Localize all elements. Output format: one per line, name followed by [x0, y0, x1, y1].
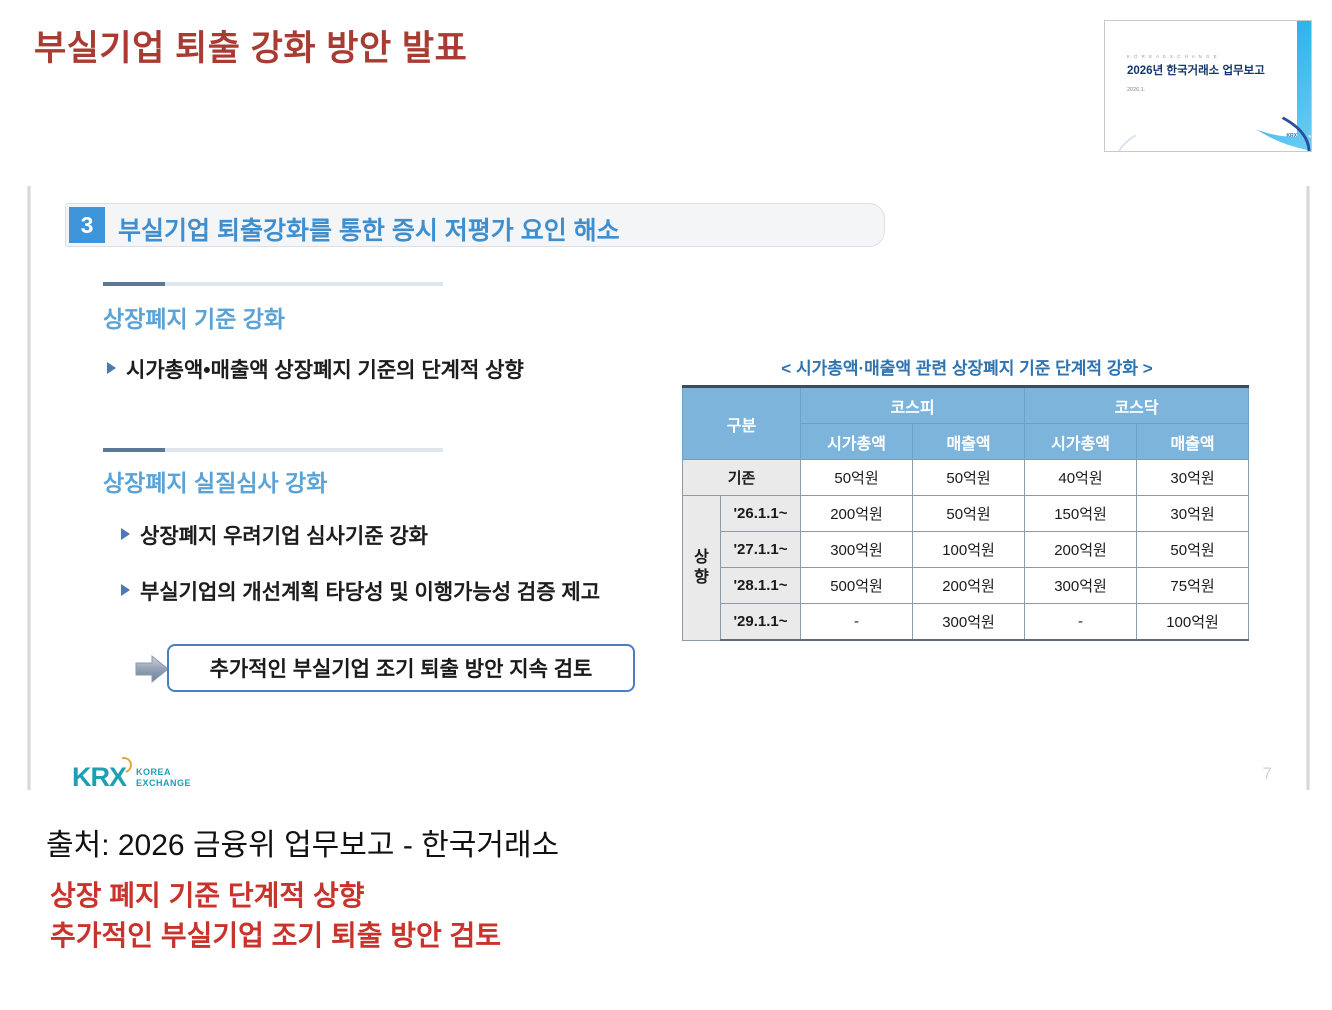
- callout-text: 추가적인 부실기업 조기 퇴출 방안 지속 검토: [210, 653, 593, 683]
- cell-value: 50억원: [913, 496, 1025, 532]
- table-header-market-kospi: 코스피: [801, 387, 1025, 424]
- highlight-caption-2: 추가적인 부실기업 조기 퇴출 방안 검토: [50, 914, 501, 954]
- slide-page-number: 7: [1263, 764, 1272, 784]
- krx-logo-line-1: KOREA: [136, 767, 191, 777]
- cell-value: 75억원: [1137, 568, 1249, 604]
- cell-value: 200억원: [913, 568, 1025, 604]
- source-caption: 출처: 2026 금융위 업무보고 - 한국거래소: [46, 820, 559, 864]
- table-header-metric: 매출액: [1137, 424, 1249, 460]
- thumbnail-eyebrow: K O R E A E X C H A N G E: [1127, 54, 1218, 59]
- slide-left-edge: [27, 186, 31, 790]
- right-arrow-icon: [135, 654, 169, 684]
- slide-right-edge: [1306, 186, 1310, 790]
- table-header-market-kosdaq: 코스닥: [1025, 387, 1249, 424]
- row-label-period: '28.1.1~: [721, 568, 801, 604]
- table-row: '29.1.1~ - 300억원 - 100억원: [683, 604, 1249, 641]
- bullet-item: 시가총액•매출액 상장폐지 기준의 단계적 상향: [107, 354, 524, 384]
- subsection-heading-1: 상장폐지 기준 강화: [103, 300, 285, 334]
- thumbnail-krx-logo: KRX: [1286, 133, 1297, 139]
- cell-value: 50억원: [801, 460, 913, 496]
- slide-canvas: 3 부실기업 퇴출강화를 통한 증시 저평가 요인 해소 상장폐지 기준 강화 …: [27, 186, 1310, 790]
- bullet-item: 부실기업의 개선계획 타당성 및 이행가능성 검증 제고: [121, 576, 600, 606]
- row-label-raise-char: 향: [694, 569, 709, 586]
- row-label-period: '26.1.1~: [721, 496, 801, 532]
- krx-logo-line-2: EXCHANGE: [136, 778, 191, 788]
- cell-value: 50억원: [913, 460, 1025, 496]
- highlight-caption-1: 상장 폐지 기준 단계적 상향: [50, 874, 364, 914]
- cell-value: 300억원: [1025, 568, 1137, 604]
- divider-rule-2: [103, 448, 443, 452]
- triangle-bullet-icon: [107, 362, 116, 374]
- delisting-criteria-table: 구분 코스피 코스닥 시가총액 매출액 시가총액 매출액 기존 50억원 50억…: [682, 385, 1249, 641]
- cell-value: 30억원: [1137, 460, 1249, 496]
- cell-value: -: [801, 604, 913, 641]
- row-label-existing: 기존: [683, 460, 801, 496]
- thumbnail-date: 2026.1.: [1127, 87, 1145, 93]
- cell-value: 150억원: [1025, 496, 1137, 532]
- cell-value: 100억원: [913, 532, 1025, 568]
- subsection-heading-2: 상장폐지 실질심사 강화: [103, 464, 327, 498]
- cell-value: 500억원: [801, 568, 913, 604]
- section-number-badge: 3: [69, 207, 105, 243]
- cell-value: 30억원: [1137, 496, 1249, 532]
- cell-value: 300억원: [913, 604, 1025, 641]
- cell-value: 200억원: [801, 496, 913, 532]
- table-row: '27.1.1~ 300억원 100억원 200억원 50억원: [683, 532, 1249, 568]
- table-header-metric: 시가총액: [1025, 424, 1137, 460]
- table-header-metric: 매출액: [913, 424, 1025, 460]
- triangle-bullet-icon: [121, 528, 130, 540]
- cell-value: 300억원: [801, 532, 913, 568]
- krx-logo: KRX KOREA EXCHANGE: [72, 762, 191, 793]
- cell-value: -: [1025, 604, 1137, 641]
- table-caption: < 시가총액·매출액 관련 상장폐지 기준 단계적 강화 >: [682, 354, 1252, 379]
- triangle-bullet-icon: [121, 584, 130, 596]
- row-label-period: '29.1.1~: [721, 604, 801, 641]
- bullet-text: 상장폐지 우려기업 심사기준 강화: [140, 520, 428, 550]
- cell-value: 200억원: [1025, 532, 1137, 568]
- section-header: 3 부실기업 퇴출강화를 통한 증시 저평가 요인 해소: [65, 203, 885, 247]
- krx-logo-words: KOREA EXCHANGE: [136, 767, 191, 788]
- row-label-raise-char: 상: [694, 549, 709, 566]
- cell-value: 50억원: [1137, 532, 1249, 568]
- section-title: 부실기업 퇴출강화를 통한 증시 저평가 요인 해소: [118, 211, 620, 247]
- bullet-text: 부실기업의 개선계획 타당성 및 이행가능성 검증 제고: [140, 576, 600, 606]
- cell-value: 40억원: [1025, 460, 1137, 496]
- table-header-metric: 시가총액: [801, 424, 913, 460]
- divider-rule-1: [103, 282, 443, 286]
- bullet-text: 시가총액•매출액 상장폐지 기준의 단계적 상향: [126, 354, 524, 384]
- thumbnail-title: 2026년 한국거래소 업무보고: [1127, 62, 1265, 78]
- krx-logo-mark: KRX: [72, 762, 126, 793]
- cover-thumbnail[interactable]: K O R E A E X C H A N G E 2026년 한국거래소 업무…: [1104, 20, 1312, 152]
- cell-value: 100억원: [1137, 604, 1249, 641]
- table-header-group-label: 구분: [683, 387, 801, 460]
- bullet-item: 상장폐지 우려기업 심사기준 강화: [121, 520, 428, 550]
- table-row: 상향 '26.1.1~ 200억원 50억원 150억원 30억원: [683, 496, 1249, 532]
- table-row: 기존 50억원 50억원 40억원 30억원: [683, 460, 1249, 496]
- row-label-raise: 상향: [683, 496, 721, 641]
- table-row: '28.1.1~ 500억원 200억원 300억원 75억원: [683, 568, 1249, 604]
- page-title: 부실기업 퇴출 강화 방안 발표: [34, 20, 467, 71]
- row-label-period: '27.1.1~: [721, 532, 801, 568]
- callout-box: 추가적인 부실기업 조기 퇴출 방안 지속 검토: [167, 644, 635, 692]
